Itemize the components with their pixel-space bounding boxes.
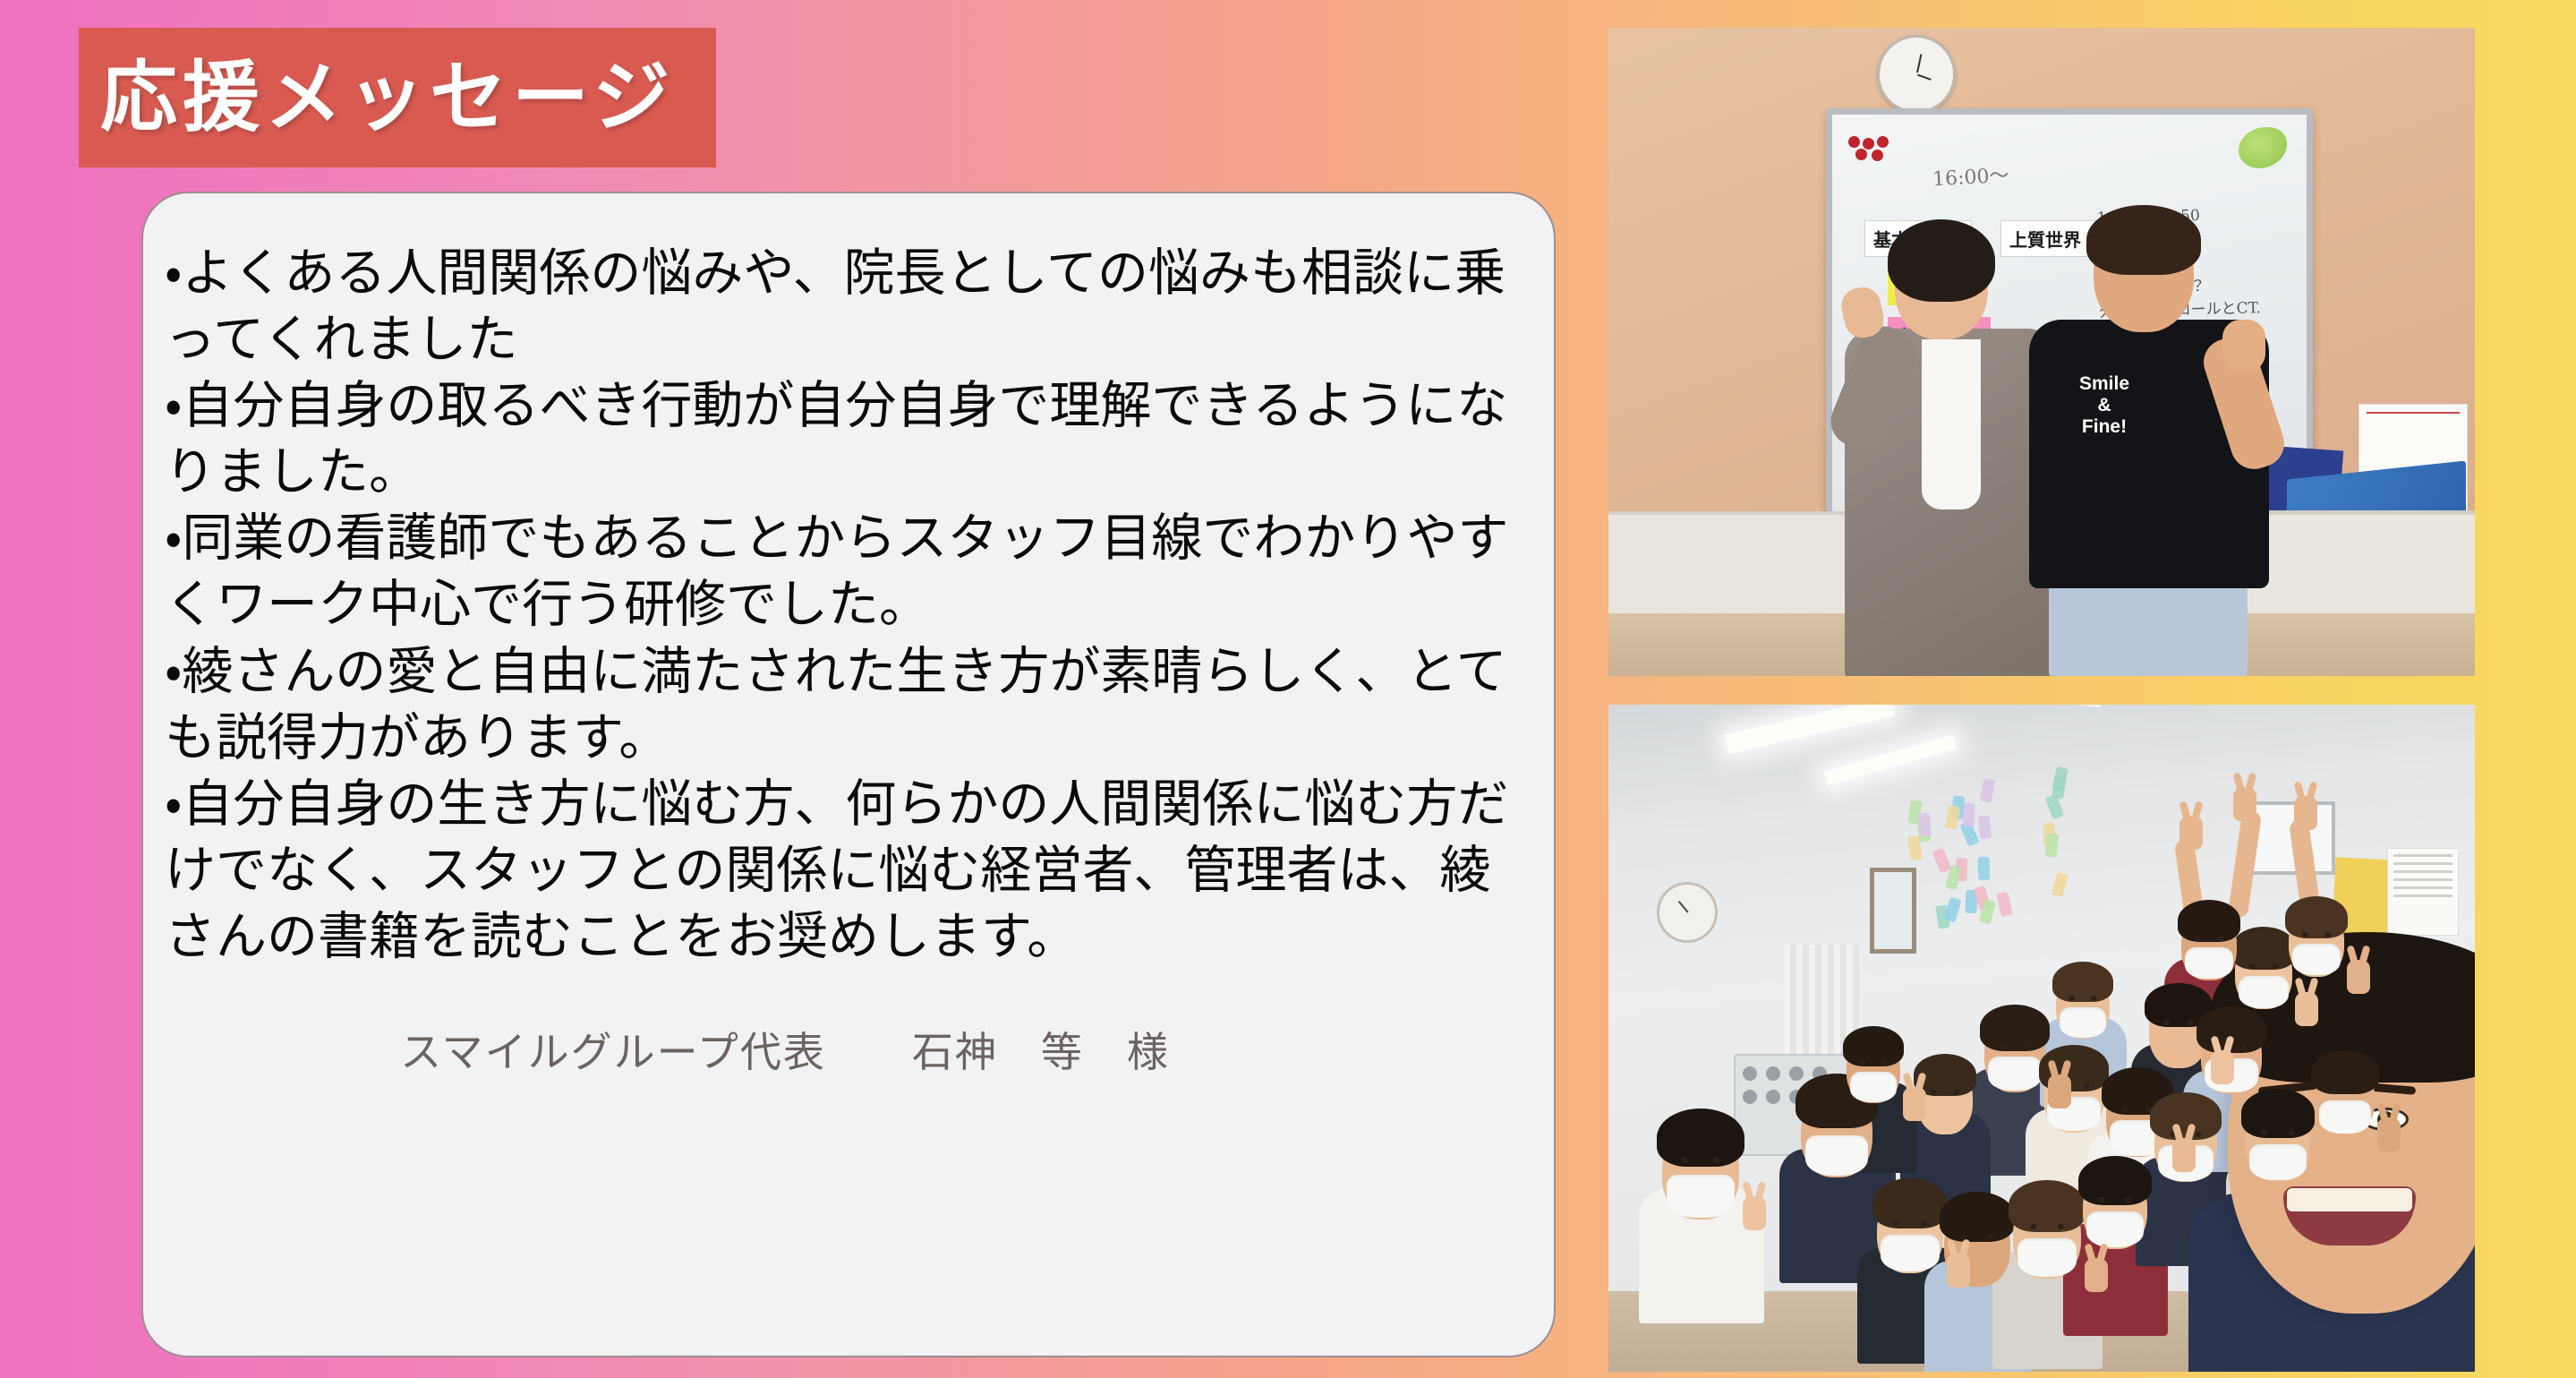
person-director: Smile & Fine! bbox=[2029, 210, 2271, 676]
peace-sign-hand-icon bbox=[2233, 787, 2256, 821]
peace-sign-hand-icon bbox=[2294, 796, 2317, 830]
staff-member-eyes bbox=[1927, 1090, 1963, 1095]
whiteboard-time-note: 16:00～ bbox=[1932, 159, 2009, 192]
face-mask-icon bbox=[1850, 1072, 1898, 1102]
staff-member-eyes bbox=[2299, 932, 2334, 937]
face-mask-icon bbox=[2060, 1007, 2107, 1038]
face-mask-icon bbox=[1805, 1135, 1868, 1176]
photo-top-scene: 16:00～ 基本的欲求 上質世界（願望） 愛・所属 力（承認） 自由 楽しみ … bbox=[1608, 28, 2475, 676]
photo-seminar-whiteboard: 16:00～ 基本的欲求 上質世界（願望） 愛・所属 力（承認） 自由 楽しみ … bbox=[1608, 28, 2475, 676]
peace-sign-hand-icon bbox=[2048, 1074, 2071, 1108]
staff-member-eyes bbox=[1676, 1158, 1725, 1163]
staff-member-eyes bbox=[1856, 1060, 1890, 1066]
staff-member-eyes bbox=[2246, 963, 2282, 969]
staff-member-face bbox=[1847, 1038, 1900, 1103]
photo-bottom-scene bbox=[1608, 705, 2475, 1372]
selfie-smile bbox=[2283, 1186, 2416, 1245]
staff-member-face bbox=[2316, 1063, 2375, 1135]
staff-member-eyes bbox=[1889, 1220, 1931, 1226]
peace-sign-hand-icon bbox=[2295, 992, 2318, 1026]
face-mask-icon bbox=[2319, 1100, 2371, 1134]
instructor-blouse bbox=[1922, 339, 1981, 509]
face-mask-icon bbox=[2185, 947, 2234, 979]
peace-sign-hand-icon bbox=[1947, 1254, 1970, 1288]
face-mask-icon bbox=[2292, 944, 2341, 975]
instructor-hair bbox=[1888, 219, 1995, 302]
peace-sign-hand-icon bbox=[2211, 1050, 2234, 1084]
face-mask-icon bbox=[2017, 1238, 2077, 1277]
peace-sign-hand-icon bbox=[1903, 1087, 1926, 1121]
staff-member-eyes bbox=[1813, 1119, 1859, 1125]
photo-group-selfie bbox=[1608, 705, 2475, 1372]
staff-member-face bbox=[2235, 939, 2292, 1009]
hanging-decorations bbox=[1904, 767, 2065, 929]
staff-member-face bbox=[2083, 1170, 2147, 1249]
staff-member-eyes bbox=[2326, 1087, 2364, 1092]
staff-member-eyes bbox=[1995, 1043, 2034, 1048]
peace-sign-hand-icon bbox=[1743, 1196, 1766, 1230]
staff-member-eyes bbox=[2066, 996, 2100, 1001]
peace-sign-hand-icon bbox=[2377, 1117, 2401, 1151]
staff-member-face bbox=[1984, 1018, 2045, 1092]
director-jeans bbox=[2049, 579, 2248, 676]
director-peace-hand bbox=[2222, 320, 2265, 372]
wall-documents bbox=[2387, 848, 2459, 936]
face-mask-icon bbox=[1881, 1235, 1939, 1272]
director-hair bbox=[2086, 205, 2201, 275]
slide-canvas: 応援メッセージ ・よくある人間関係の悩みや、院長としての悩みも相談に乗ってくれま… bbox=[0, 0, 2576, 1378]
staff-member-eyes bbox=[1956, 1234, 1998, 1239]
staff-member-eyes bbox=[2160, 1020, 2197, 1025]
peace-sign-hand-icon bbox=[2085, 1258, 2108, 1292]
wall-clock-icon-2 bbox=[1657, 882, 1718, 943]
wall-clock-icon bbox=[1877, 35, 1956, 114]
staff-member-eyes bbox=[2191, 936, 2227, 941]
message-body-text: ・よくある人間関係の悩みや、院長としての悩みも相談に乗ってくれました ・自分自身… bbox=[165, 240, 1531, 970]
staff-member-eyes bbox=[2094, 1197, 2136, 1203]
staff-member-face bbox=[2056, 973, 2110, 1039]
staff-member-eyes bbox=[2257, 1130, 2299, 1135]
staff-member-face bbox=[2181, 912, 2237, 980]
title-banner: 応援メッセージ bbox=[79, 28, 716, 167]
message-card: ・よくある人間関係の悩みや、院長としての悩みも相談に乗ってくれました ・自分自身… bbox=[141, 192, 1556, 1357]
staff-member-face bbox=[2246, 1103, 2310, 1182]
staff-member-face bbox=[1662, 1126, 1739, 1220]
magnet-icons bbox=[1848, 136, 1897, 163]
peace-sign-hand-icon bbox=[2172, 1138, 2196, 1172]
peace-sign-hand-icon bbox=[2347, 960, 2370, 994]
staff-member-face bbox=[2289, 909, 2344, 977]
message-signature: スマイルグループ代表 石神 等 様 bbox=[165, 1020, 1531, 1079]
face-mask-icon bbox=[1667, 1175, 1735, 1218]
peace-sign-hand-icon bbox=[2179, 816, 2203, 850]
face-mask-icon bbox=[1988, 1057, 2042, 1091]
face-mask-icon bbox=[2239, 976, 2289, 1008]
tshirt-slogan-text: Smile & Fine! bbox=[2061, 373, 2147, 438]
framed-picture bbox=[1870, 868, 1916, 954]
staff-member-face bbox=[2013, 1195, 2081, 1279]
staff-member-face bbox=[1877, 1193, 1943, 1273]
leaf-decoration-icon bbox=[2239, 127, 2287, 168]
face-mask-icon bbox=[2086, 1211, 2143, 1247]
page-title: 応援メッセージ bbox=[100, 59, 675, 136]
staff-member-face bbox=[1801, 1090, 1872, 1177]
staff-member-eyes bbox=[2026, 1224, 2069, 1229]
face-mask-icon bbox=[2249, 1144, 2306, 1180]
